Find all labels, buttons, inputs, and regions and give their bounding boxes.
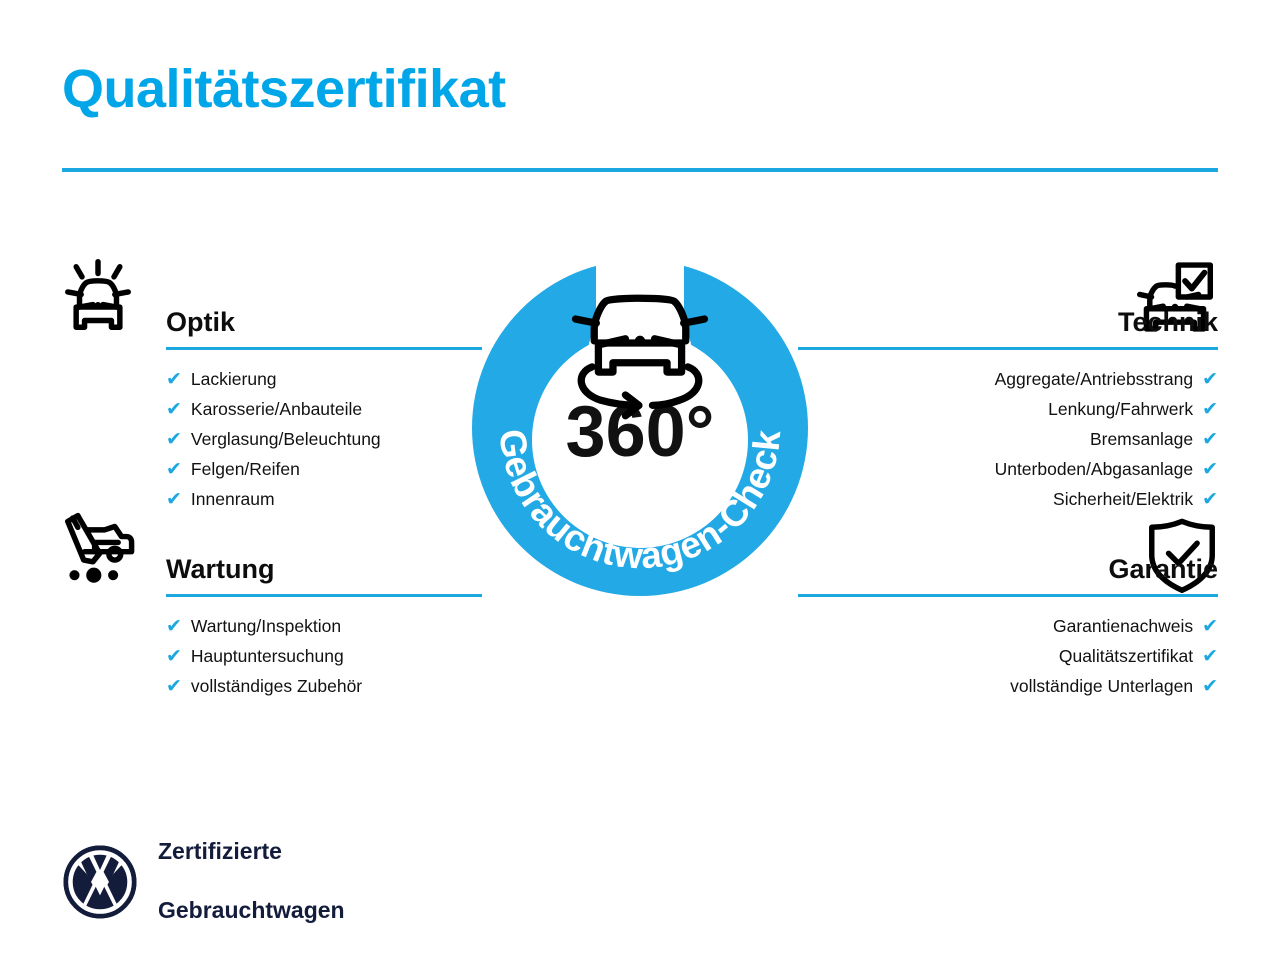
section-garantie-title: Garantie (1108, 556, 1218, 583)
section-technik: Technik Aggregate/Antriebsstrang✔ Lenkun… (798, 294, 1218, 514)
section-garantie-divider (798, 594, 1218, 597)
footer-lockup: Zertifizierte Gebrauchtwagen (62, 808, 345, 955)
list-item: ✔vollständiges Zubehör (62, 671, 482, 701)
section-optik-divider (166, 347, 482, 350)
list-item: ✔Innenraum (62, 484, 482, 514)
section-technik-list: Aggregate/Antriebsstrang✔ Lenkung/Fahrwe… (798, 364, 1218, 514)
list-item-label: Lackierung (191, 364, 277, 394)
list-item: Sicherheit/Elektrik✔ (798, 484, 1218, 514)
list-item: ✔Felgen/Reifen (62, 454, 482, 484)
list-item-label: Hauptuntersuchung (191, 641, 344, 671)
check-icon: ✔ (1202, 430, 1218, 449)
section-optik-title: Optik (166, 309, 235, 336)
list-item-label: Karosserie/Anbauteile (191, 394, 362, 424)
list-item: Bremsanlage✔ (798, 424, 1218, 454)
list-item: Qualitätszertifikat✔ (798, 641, 1218, 671)
check-icon: ✔ (1202, 400, 1218, 419)
check-icon: ✔ (1202, 647, 1218, 666)
list-item: ✔Wartung/Inspektion (62, 611, 482, 641)
section-technik-divider (798, 347, 1218, 350)
check-icon: ✔ (166, 617, 182, 636)
section-optik: Optik ✔Lackierung ✔Karosserie/Anbauteile… (62, 294, 482, 514)
list-item-label: Garantienachweis (1053, 611, 1193, 641)
list-item: ✔Lackierung (62, 364, 482, 394)
list-item: Aggregate/Antriebsstrang✔ (798, 364, 1218, 394)
section-garantie: Garantie Garantienachweis✔ Qualitätszert… (798, 541, 1218, 701)
footer-text: Zertifizierte Gebrauchtwagen (158, 808, 345, 955)
section-garantie-list: Garantienachweis✔ Qualitätszertifikat✔ v… (798, 611, 1218, 701)
list-item-label: Felgen/Reifen (191, 454, 300, 484)
check-icon: ✔ (166, 490, 182, 509)
list-item-label: Sicherheit/Elektrik (1053, 484, 1193, 514)
check-icon: ✔ (166, 430, 182, 449)
volkswagen-logo (62, 844, 138, 920)
section-technik-header: Technik (798, 294, 1218, 350)
footer-line-1: Zertifizierte (158, 837, 345, 866)
list-item-label: Unterboden/Abgasanlage (995, 454, 1194, 484)
check-icon: ✔ (166, 400, 182, 419)
check-icon: ✔ (166, 677, 182, 696)
header-divider (62, 168, 1218, 172)
list-item-label: Aggregate/Antriebsstrang (995, 364, 1193, 394)
list-item-label: Bremsanlage (1090, 424, 1193, 454)
section-optik-list: ✔Lackierung ✔Karosserie/Anbauteile ✔Verg… (62, 364, 482, 514)
section-optik-header: Optik (62, 294, 482, 350)
check-icon: ✔ (166, 647, 182, 666)
list-item: vollständige Unterlagen✔ (798, 671, 1218, 701)
check-icon: ✔ (1202, 370, 1218, 389)
check-icon: ✔ (1202, 460, 1218, 479)
list-item: ✔Verglasung/Beleuchtung (62, 424, 482, 454)
page-title: Qualitätszertifikat (62, 58, 506, 120)
check-icon: ✔ (1202, 490, 1218, 509)
section-wartung-title: Wartung (166, 556, 274, 583)
section-garantie-header: Garantie (798, 541, 1218, 597)
list-item: Garantienachweis✔ (798, 611, 1218, 641)
list-item-label: Wartung/Inspektion (191, 611, 341, 641)
badge-360-gebrauchtwagen-check: Gebrauchtwagen-Check 360° (456, 244, 824, 612)
list-item-label: vollständiges Zubehör (191, 671, 362, 701)
list-item: ✔Hauptuntersuchung (62, 641, 482, 671)
list-item-label: Innenraum (191, 484, 275, 514)
section-wartung: Wartung ✔Wartung/Inspektion ✔Hauptunters… (62, 541, 482, 701)
list-item: Lenkung/Fahrwerk✔ (798, 394, 1218, 424)
section-wartung-list: ✔Wartung/Inspektion ✔Hauptuntersuchung ✔… (62, 611, 482, 701)
list-item: ✔Karosserie/Anbauteile (62, 394, 482, 424)
list-item-label: Verglasung/Beleuchtung (191, 424, 381, 454)
section-wartung-divider (166, 594, 482, 597)
list-item-label: Lenkung/Fahrwerk (1048, 394, 1193, 424)
list-item-label: Qualitätszertifikat (1059, 641, 1193, 671)
footer-line-2: Gebrauchtwagen (158, 896, 345, 925)
section-technik-title: Technik (1118, 309, 1218, 336)
list-item-label: vollständige Unterlagen (1010, 671, 1193, 701)
section-wartung-header: Wartung (62, 541, 482, 597)
check-icon: ✔ (1202, 677, 1218, 696)
list-item: Unterboden/Abgasanlage✔ (798, 454, 1218, 484)
check-icon: ✔ (166, 460, 182, 479)
check-icon: ✔ (1202, 617, 1218, 636)
check-icon: ✔ (166, 370, 182, 389)
